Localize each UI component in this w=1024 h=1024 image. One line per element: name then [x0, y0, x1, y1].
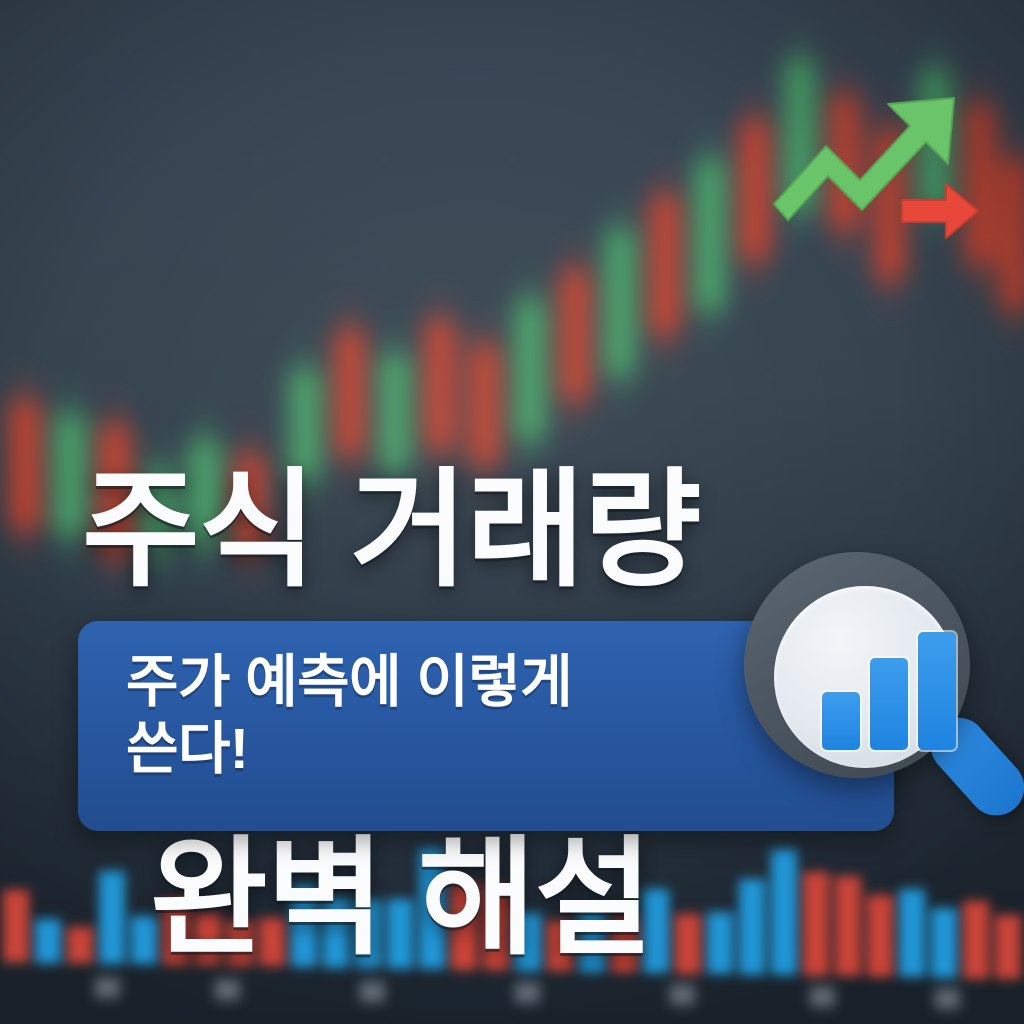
magnifier-ring — [744, 552, 970, 778]
candle-body — [55, 415, 85, 535]
magnifier-bar-1 — [822, 692, 860, 750]
poster-canvas: ██████████████ 주식 거래량 완벽 해설 주가 예측에 이렇게 쓴… — [0, 0, 1024, 1024]
volume-bar — [963, 901, 989, 979]
magnifier-lens — [774, 586, 956, 768]
magnifier-bar-group — [818, 636, 970, 786]
volume-bar — [35, 919, 61, 963]
subtitle-text: 주가 예측에 이렇게 쓴다! — [126, 649, 786, 782]
volume-bar — [995, 915, 1021, 979]
volume-bar — [3, 890, 29, 962]
magnifier-bar-chart-icon — [736, 540, 1024, 840]
candle-body — [10, 400, 40, 530]
magnifier-bar-2 — [870, 658, 908, 750]
candle-body — [1000, 160, 1024, 310]
page-title-line-2: 완벽 해설 — [150, 838, 962, 961]
magnifier-bar-3 — [918, 632, 956, 750]
